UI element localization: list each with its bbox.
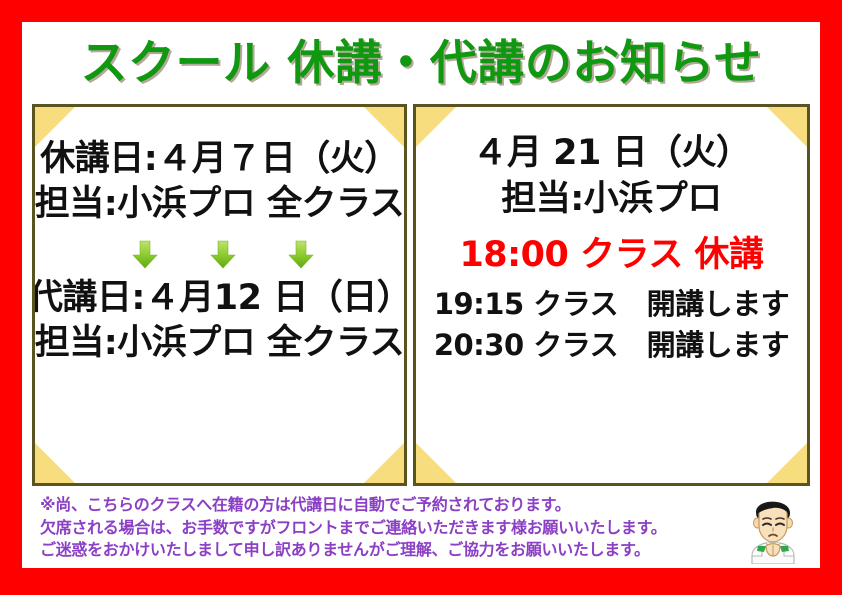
left-notice-panel: 休講日:４月７日（火） 担当:小浜プロ 全クラス [32,104,407,486]
makeup-date-line: 代講日:４月12 日（日） [32,278,407,319]
poster-inner-area: スクール 休講・代講のお知らせ 休講日:４月７日（火） 担当:小浜プロ 全クラス [22,22,820,568]
down-arrow-icon [132,240,158,270]
bowing-person-icon [736,490,810,564]
right-instructor-line: 担当:小浜プロ [501,179,722,220]
footer-line-3: ご迷惑をおかけいたしまして申し訳ありませんがご理解、ご協力をお願いいたします。 [40,539,736,562]
cancelled-class-highlight: 18:00 クラス 休講 [459,234,763,276]
footer-line-2: 欠席される場合は、お手数ですがフロントまでご連絡いただきます様お願いいたします。 [40,517,736,540]
left-panel-body: 休講日:４月７日（火） 担当:小浜プロ 全クラス [35,107,404,483]
footer-note: ※尚、こちらのクラスへ在籍の方は代講日に自動でご予約されております。 欠席される… [32,490,812,566]
footer-text-block: ※尚、こちらのクラスへ在籍の方は代講日に自動でご予約されております。 欠席される… [32,490,736,562]
down-arrow-icon [210,240,236,270]
right-panel-body: ４月 21 日（火） 担当:小浜プロ 18:00 クラス 休講 19:15 クラ… [416,107,807,483]
right-date-line: ４月 21 日（火） [472,133,750,174]
poster-title-bar: スクール 休講・代講のお知らせ [22,24,820,102]
cancelled-date-line: 休講日:４月７日（火） [40,139,399,180]
class-status-line-1915: 19:15 クラス 開講します [434,286,789,322]
right-notice-panel: ４月 21 日（火） 担当:小浜プロ 18:00 クラス 休講 19:15 クラ… [413,104,810,486]
class-status-line-2030: 20:30 クラス 開講します [434,327,789,363]
page-title: スクール 休講・代講のお知らせ [81,40,762,87]
makeup-instructor-line: 担当:小浜プロ 全クラス [35,323,404,364]
panels-row: 休講日:４月７日（火） 担当:小浜プロ 全クラス [32,104,810,486]
down-arrow-icon [288,240,314,270]
notice-poster: スクール 休講・代講のお知らせ 休講日:４月７日（火） 担当:小浜プロ 全クラス [0,0,842,595]
arrows-row [126,240,314,270]
footer-line-1: ※尚、こちらのクラスへ在籍の方は代講日に自動でご予約されております。 [40,494,736,517]
cancelled-instructor-line: 担当:小浜プロ 全クラス [35,184,404,225]
